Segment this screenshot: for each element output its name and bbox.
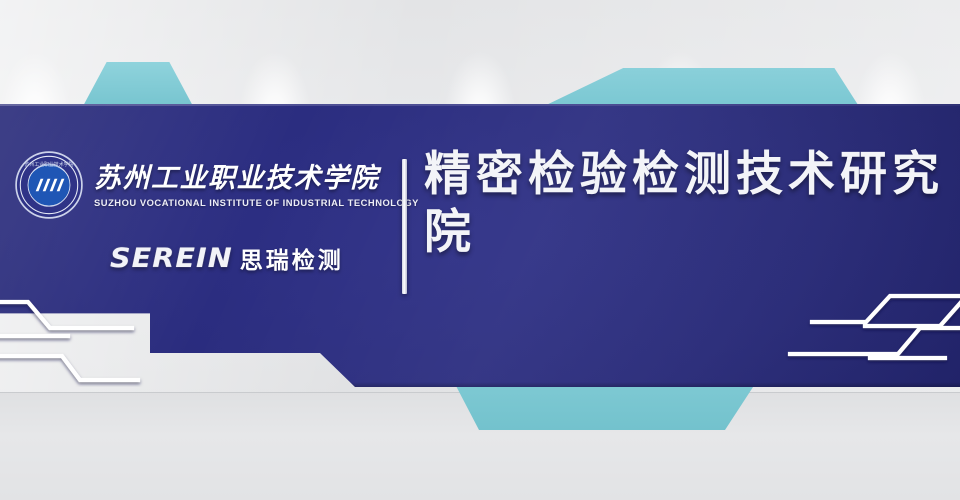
university-identity: 苏州工业职业技术学院 苏州工业职业技术学院 SUZHOU VOCATIONAL … [14,150,396,220]
vertical-divider-bar [402,159,407,294]
serein-wordmark: SEREIN [110,243,233,274]
university-name-cn: 苏州工业职业技术学院 [94,164,419,192]
serein-name-cn: 思瑞检测 [240,241,344,275]
university-name-en: SUZHOU VOCATIONAL INSTITUTE OF INDUSTRIA… [94,197,419,208]
university-name-group: 苏州工业职业技术学院 SUZHOU VOCATIONAL INSTITUTE O… [94,162,419,208]
brand-block: 苏州工业职业技术学院 苏州工业职业技术学院 SUZHOU VOCATIONAL … [14,150,396,275]
suzhou-institute-crest-icon: 苏州工业职业技术学院 [14,150,84,220]
teal-hexagon-bottom-icon [455,384,755,430]
signage-scene: 苏州工业职业技术学院 苏州工业职业技术学院 SUZHOU VOCATIONAL … [0,0,960,500]
institute-headline: 精密检验检测技术研究院 [424,146,944,262]
panel-content: 苏州工业职业技术学院 苏州工业职业技术学院 SUZHOU VOCATIONAL … [0,104,960,387]
partner-identity: SEREIN 思瑞检测 [14,241,396,275]
